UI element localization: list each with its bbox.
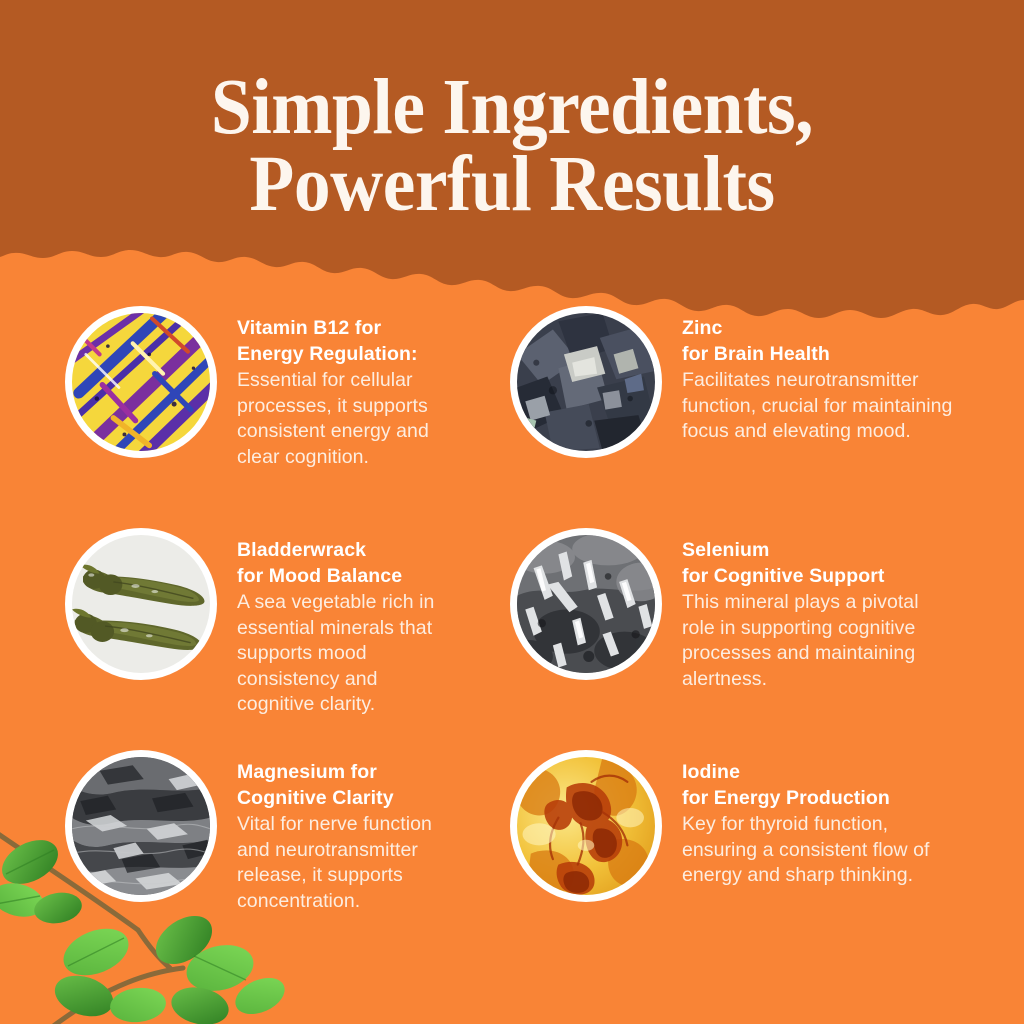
ingredient-body: A sea vegetable rich in essential minera… — [237, 590, 455, 717]
ingredient-copy: Bladderwrack for Mood Balance A sea vege… — [237, 522, 455, 717]
heading-line-1: Zinc — [682, 317, 723, 339]
heading-line-2: for Cognitive Support — [682, 564, 955, 590]
heading-line-1: Bladderwrack — [237, 539, 366, 561]
vitamin-b12-thumbnail — [65, 306, 217, 458]
selenium-crystals-image — [517, 535, 655, 673]
ingredient-copy: Zinc for Brain Health Facilitates neurot… — [682, 300, 955, 445]
heading-line-2: for Brain Health — [682, 342, 955, 368]
ingredient-card-bladderwrack: Bladderwrack for Mood Balance A sea vege… — [0, 522, 455, 744]
ingredient-heading: Iodine for Energy Production — [682, 760, 955, 811]
heading-line-2: for Mood Balance — [237, 564, 455, 590]
ingredient-heading: Selenium for Cognitive Support — [682, 538, 955, 589]
heading-line-1: Magnesium for — [237, 761, 377, 783]
ingredient-card-zinc: Zinc for Brain Health Facilitates neurot… — [455, 300, 955, 522]
zinc-ore-image — [517, 313, 655, 451]
ingredient-body: Facilitates neurotransmitter function, c… — [682, 368, 955, 444]
ingredients-grid: Vitamin B12 for Energy Regulation: Essen… — [0, 300, 1024, 966]
bladderwrack-thumbnail — [65, 528, 217, 680]
ingredient-heading: Zinc for Brain Health — [682, 316, 955, 367]
ingredient-body: Key for thyroid function, ensuring a con… — [682, 812, 955, 888]
ingredient-card-magnesium: Magnesium for Cognitive Clarity Vital fo… — [0, 744, 455, 966]
ingredient-copy: Magnesium for Cognitive Clarity Vital fo… — [237, 744, 455, 914]
ingredient-card-vitamin-b12: Vitamin B12 for Energy Regulation: Essen… — [0, 300, 455, 522]
ingredient-body: This mineral plays a pivotal role in sup… — [682, 590, 955, 691]
magnesium-rock-image — [72, 757, 210, 895]
ingredient-heading: Bladderwrack for Mood Balance — [237, 538, 455, 589]
heading-line-2: Energy Regulation: — [237, 342, 455, 368]
selenium-thumbnail — [510, 528, 662, 680]
iodine-solution-image — [517, 757, 655, 895]
ingredient-copy: Iodine for Energy Production Key for thy… — [682, 744, 955, 889]
magnesium-thumbnail — [65, 750, 217, 902]
ingredient-copy: Selenium for Cognitive Support This mine… — [682, 522, 955, 692]
heading-line-1: Selenium — [682, 539, 770, 561]
ingredient-heading: Vitamin B12 for Energy Regulation: — [237, 316, 455, 367]
ingredient-body: Essential for cellular processes, it sup… — [237, 368, 455, 469]
vitamin-b12-crystal-micrograph-image — [72, 313, 210, 451]
infographic-poster: Simple Ingredients, Powerful Results — [0, 0, 1024, 1024]
heading-line-2: Cognitive Clarity — [237, 786, 455, 812]
heading-line-1: Iodine — [682, 761, 740, 783]
zinc-thumbnail — [510, 306, 662, 458]
ingredient-body: Vital for nerve function and neurotransm… — [237, 812, 455, 913]
header-band — [0, 0, 1024, 340]
iodine-thumbnail — [510, 750, 662, 902]
ingredient-card-selenium: Selenium for Cognitive Support This mine… — [455, 522, 955, 744]
ingredient-card-iodine: Iodine for Energy Production Key for thy… — [455, 744, 955, 966]
ingredient-row-2: Bladderwrack for Mood Balance A sea vege… — [0, 522, 1024, 744]
ingredient-row-1: Vitamin B12 for Energy Regulation: Essen… — [0, 300, 1024, 522]
ingredient-copy: Vitamin B12 for Energy Regulation: Essen… — [237, 300, 455, 470]
ingredient-row-3: Magnesium for Cognitive Clarity Vital fo… — [0, 744, 1024, 966]
bladderwrack-seaweed-image — [72, 535, 210, 673]
torn-paper-edge — [0, 0, 1024, 340]
heading-line-1: Vitamin B12 for — [237, 317, 381, 339]
ingredient-heading: Magnesium for Cognitive Clarity — [237, 760, 455, 811]
heading-line-2: for Energy Production — [682, 786, 955, 812]
